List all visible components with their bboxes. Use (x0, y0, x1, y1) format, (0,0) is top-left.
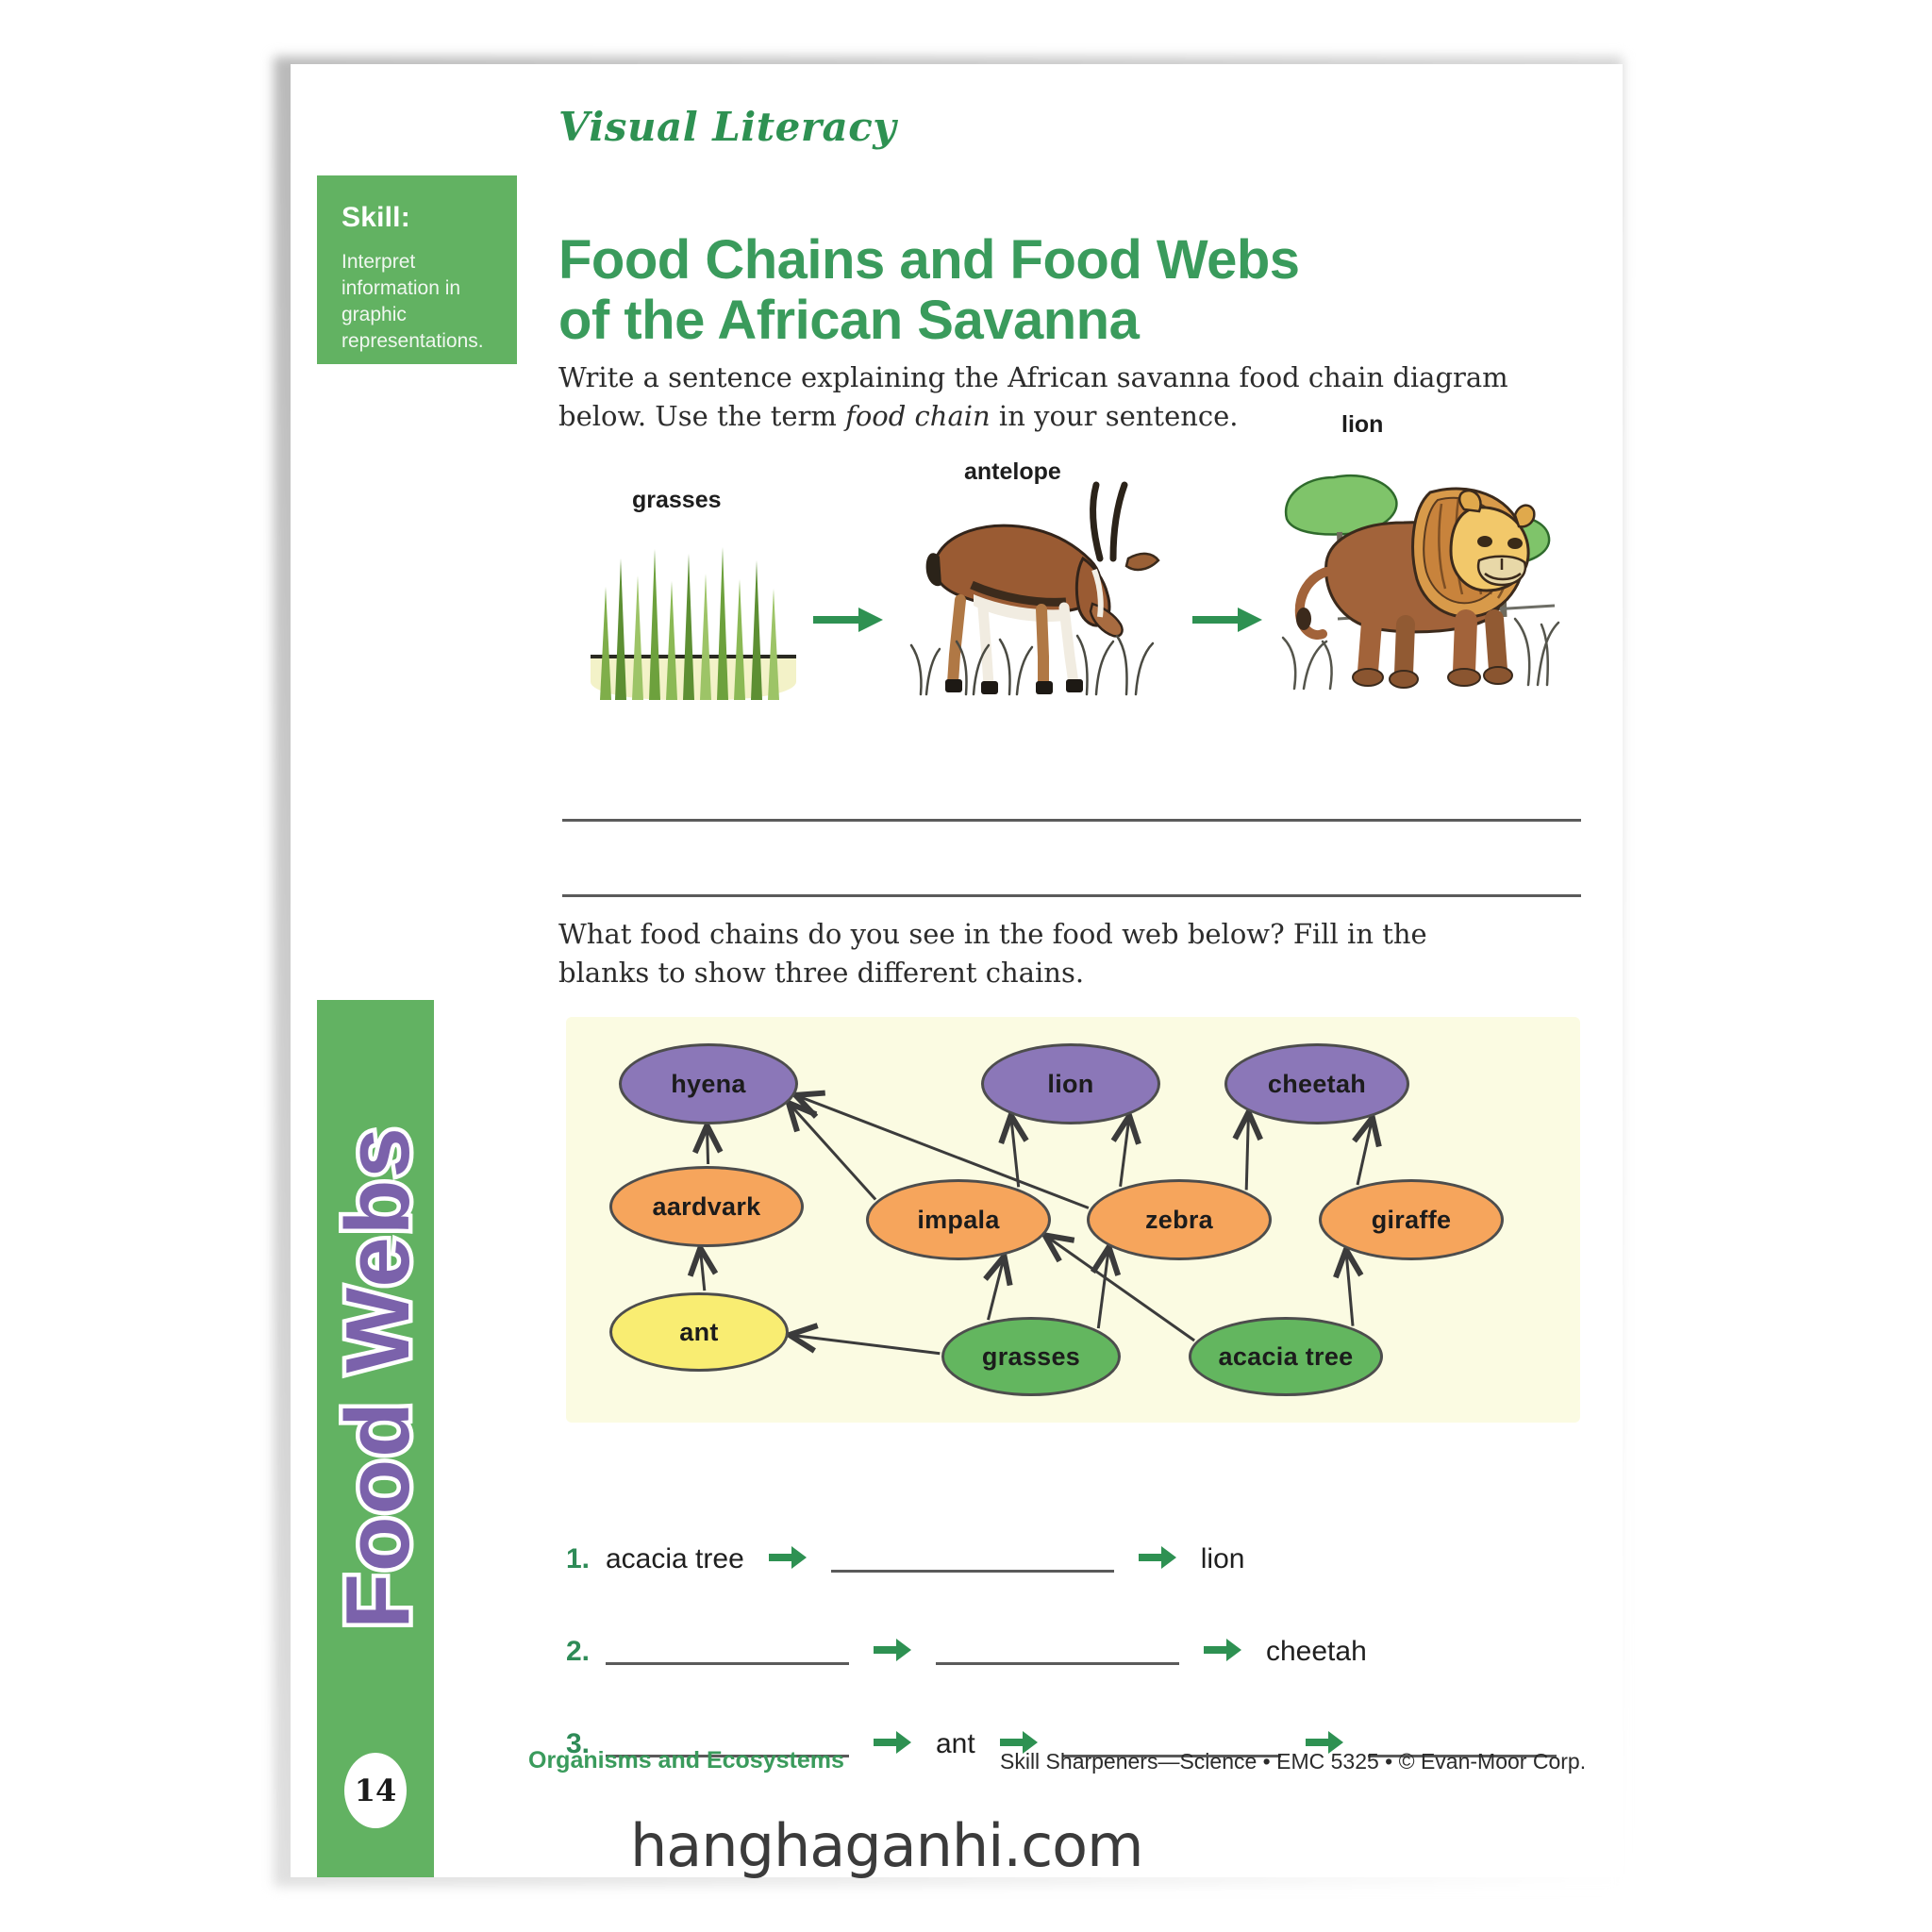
prompt1-emphasis: food chain (845, 400, 991, 432)
answer-line-2[interactable] (562, 894, 1581, 897)
footer-subject: Organisms and Ecosystems (528, 1747, 844, 1774)
food-web-edge-zebra-to-lion (1121, 1119, 1129, 1187)
food-web-edge-aardvark-to-hyena (708, 1128, 708, 1164)
prompt1-line2-pre: below. Use the term (558, 400, 845, 432)
chain-arrow-icon (1204, 1636, 1241, 1668)
food-web-edge-acacia-tree-to-giraffe (1346, 1253, 1353, 1326)
chain-arrow-icon (874, 1636, 911, 1668)
skill-box: Skill: Interpret information in graphic … (317, 175, 517, 364)
page-title-line2: of the African Savanna (558, 290, 1139, 351)
chain-blank-input[interactable] (831, 1570, 1114, 1573)
chain-row-number: 2. (566, 1636, 606, 1668)
eyebrow-visual-literacy: Visual Literacy (558, 104, 896, 150)
food-web-node-ant: ant (609, 1292, 789, 1372)
food-web-node-aardvark: aardvark (609, 1166, 804, 1247)
food-web-node-lion: lion (981, 1043, 1160, 1124)
food-web-node-impala: impala (866, 1179, 1051, 1260)
chain-item-grasses: grasses (583, 530, 806, 700)
spine-label: Food Webs (326, 995, 430, 1759)
food-web-node-giraffe: giraffe (1319, 1179, 1504, 1260)
chain-arrow-1 (813, 606, 883, 634)
chain-item-lion: lion (1272, 406, 1574, 700)
food-web-edge-zebra-to-cheetah (1246, 1115, 1248, 1190)
food-web-node-cheetah: cheetah (1224, 1043, 1409, 1124)
prompt1-line1: Write a sentence explaining the African … (558, 361, 1508, 393)
food-web-node-acacia-tree: acacia tree (1189, 1317, 1383, 1396)
page-title-line1: Food Chains and Food Webs (558, 229, 1300, 291)
chain-word: ant (936, 1728, 975, 1760)
grass-clump (583, 530, 806, 700)
chain-item-antelope: antelope (898, 453, 1181, 700)
page-number-badge: 14 (344, 1753, 407, 1828)
prompt2-line2: blanks to show three different chains. (558, 957, 1084, 989)
chain-arrow-icon (1139, 1543, 1176, 1575)
food-web-edge-grasses-to-ant (792, 1335, 941, 1353)
worksheet-page: Visual Literacy Food Chains and Food Web… (291, 64, 1623, 1877)
food-web-node-hyena: hyena (619, 1043, 798, 1124)
food-web-node-zebra: zebra (1087, 1179, 1272, 1260)
chain-blank-input[interactable] (936, 1662, 1179, 1665)
chain-word: cheetah (1266, 1636, 1367, 1668)
food-web-diagram: hyenalioncheetahaardvarkimpalazebragiraf… (566, 1017, 1580, 1423)
chain-arrow-icon (769, 1543, 807, 1575)
lion-drawing (1272, 406, 1574, 700)
section-spine-food-webs: Food Webs 14 (317, 1000, 434, 1877)
page-title: Food Chains and Food Webs of the African… (558, 230, 1389, 351)
antelope-drawing (898, 453, 1181, 700)
chain-arrow-2 (1192, 606, 1262, 634)
skill-box-description: Interpret information in graphic represe… (341, 249, 498, 355)
fill-in-chain-row-1: 1.acacia treelion (566, 1538, 1244, 1581)
chain-label-antelope: antelope (964, 458, 1061, 486)
chain-arrow-icon (874, 1728, 911, 1760)
chain-word: acacia tree (606, 1543, 744, 1575)
food-chain-illustration: grasses (566, 443, 1580, 769)
prompt2-line1: What food chains do you see in the food … (558, 918, 1427, 950)
food-web-edge-grasses-to-zebra (1098, 1250, 1108, 1328)
chain-blank-input[interactable] (606, 1662, 849, 1665)
prompt1-line2-post: in your sentence. (991, 400, 1239, 432)
chain-label-grasses: grasses (632, 487, 722, 514)
answer-line-1[interactable] (562, 819, 1581, 822)
fill-in-chain-row-2: 2.cheetah (566, 1630, 1367, 1674)
chain-label-lion: lion (1341, 411, 1383, 439)
food-web-node-grasses: grasses (941, 1317, 1121, 1396)
food-web-edge-grasses-to-impala (989, 1259, 1004, 1321)
footer-credit: Skill Sharpeners—Science • EMC 5325 • © … (1000, 1749, 1586, 1774)
chain-word: lion (1201, 1543, 1245, 1575)
watermark-bottom: hanghaganhi.com (630, 1811, 1143, 1880)
skill-box-label: Skill: (341, 202, 498, 234)
screenshot-stage: hanghaganhi.com Visual Literacy Food Cha… (0, 0, 1932, 1932)
food-web-edge-impala-to-lion (1011, 1118, 1019, 1187)
food-web-edge-impala-to-hyena (791, 1105, 875, 1199)
food-web-edge-giraffe-to-cheetah (1357, 1121, 1372, 1185)
food-web-edge-ant-to-aardvark (701, 1251, 705, 1291)
chain-row-number: 1. (566, 1543, 606, 1575)
prompt-food-web: What food chains do you see in the food … (558, 915, 1558, 992)
